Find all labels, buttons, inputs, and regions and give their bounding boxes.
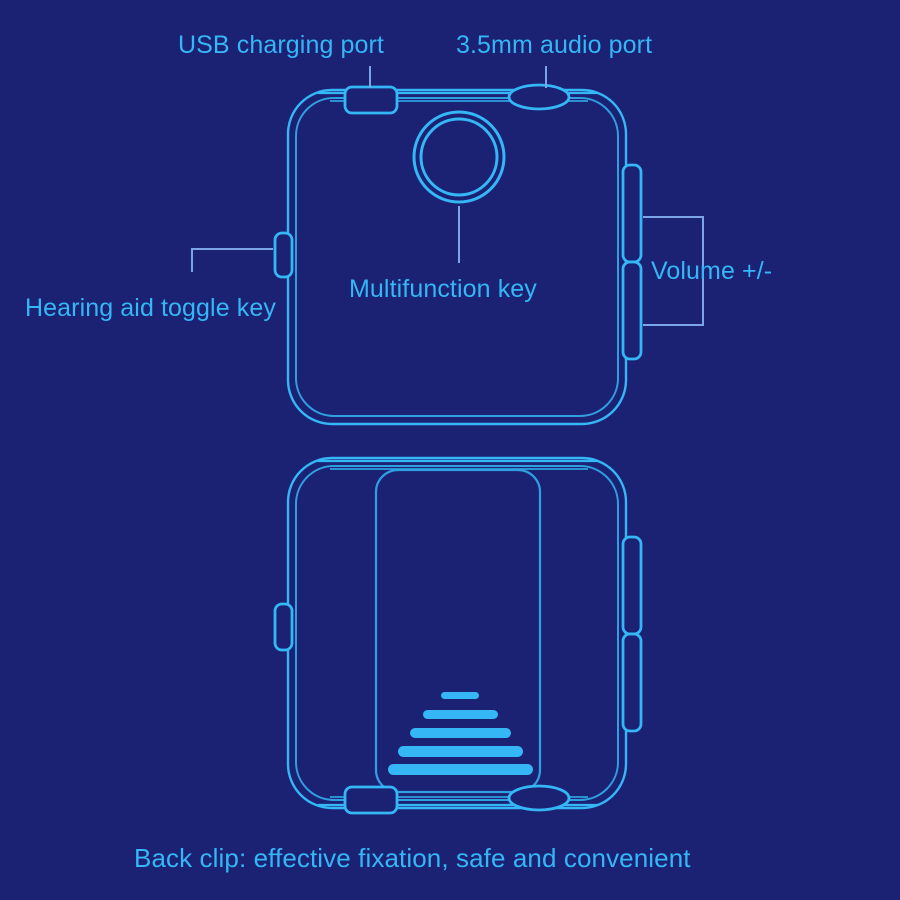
multifunction-key[interactable]	[421, 119, 497, 195]
speaker-grille-bar	[398, 746, 523, 757]
back-clip-panel[interactable]	[376, 470, 540, 792]
label-hearing-aid-toggle-key: Hearing aid toggle key	[25, 282, 295, 335]
label-multifunction-key: Multifunction key	[349, 275, 537, 304]
usb-charging-port[interactable]	[345, 787, 397, 813]
front-body-inner	[296, 98, 618, 416]
multifunction-key-outer-ring	[414, 112, 504, 202]
front-body-outer	[288, 90, 626, 424]
usb-charging-port[interactable]	[345, 87, 397, 113]
hearing-aid-toggle-key[interactable]	[275, 604, 292, 650]
diagram-canvas: USB charging port 3.5mm audio port Volum…	[0, 0, 900, 900]
label-usb-charging-port: USB charging port	[178, 31, 384, 60]
back-view	[275, 458, 641, 813]
speaker-grille-bar	[441, 692, 479, 699]
device-blueprint-svg	[0, 0, 900, 900]
volume-down-button[interactable]	[623, 634, 641, 731]
volume-down-button[interactable]	[623, 262, 641, 359]
audio-port[interactable]	[509, 786, 569, 810]
label-back-clip-caption: Back clip: effective fixation, safe and …	[134, 843, 691, 874]
volume-up-button[interactable]	[623, 537, 641, 634]
volume-up-button[interactable]	[623, 165, 641, 262]
speaker-grille-bar	[388, 764, 533, 775]
speaker-grille-bar	[410, 728, 511, 738]
speaker-grille-bar	[423, 710, 498, 719]
label-audio-port: 3.5mm audio port	[456, 31, 652, 60]
hearing-aid-leader-line	[192, 249, 273, 272]
hearing-aid-toggle-key[interactable]	[275, 233, 292, 277]
speaker-grille	[388, 692, 533, 775]
label-volume: Volume +/-	[651, 257, 772, 286]
audio-port[interactable]	[509, 85, 569, 109]
